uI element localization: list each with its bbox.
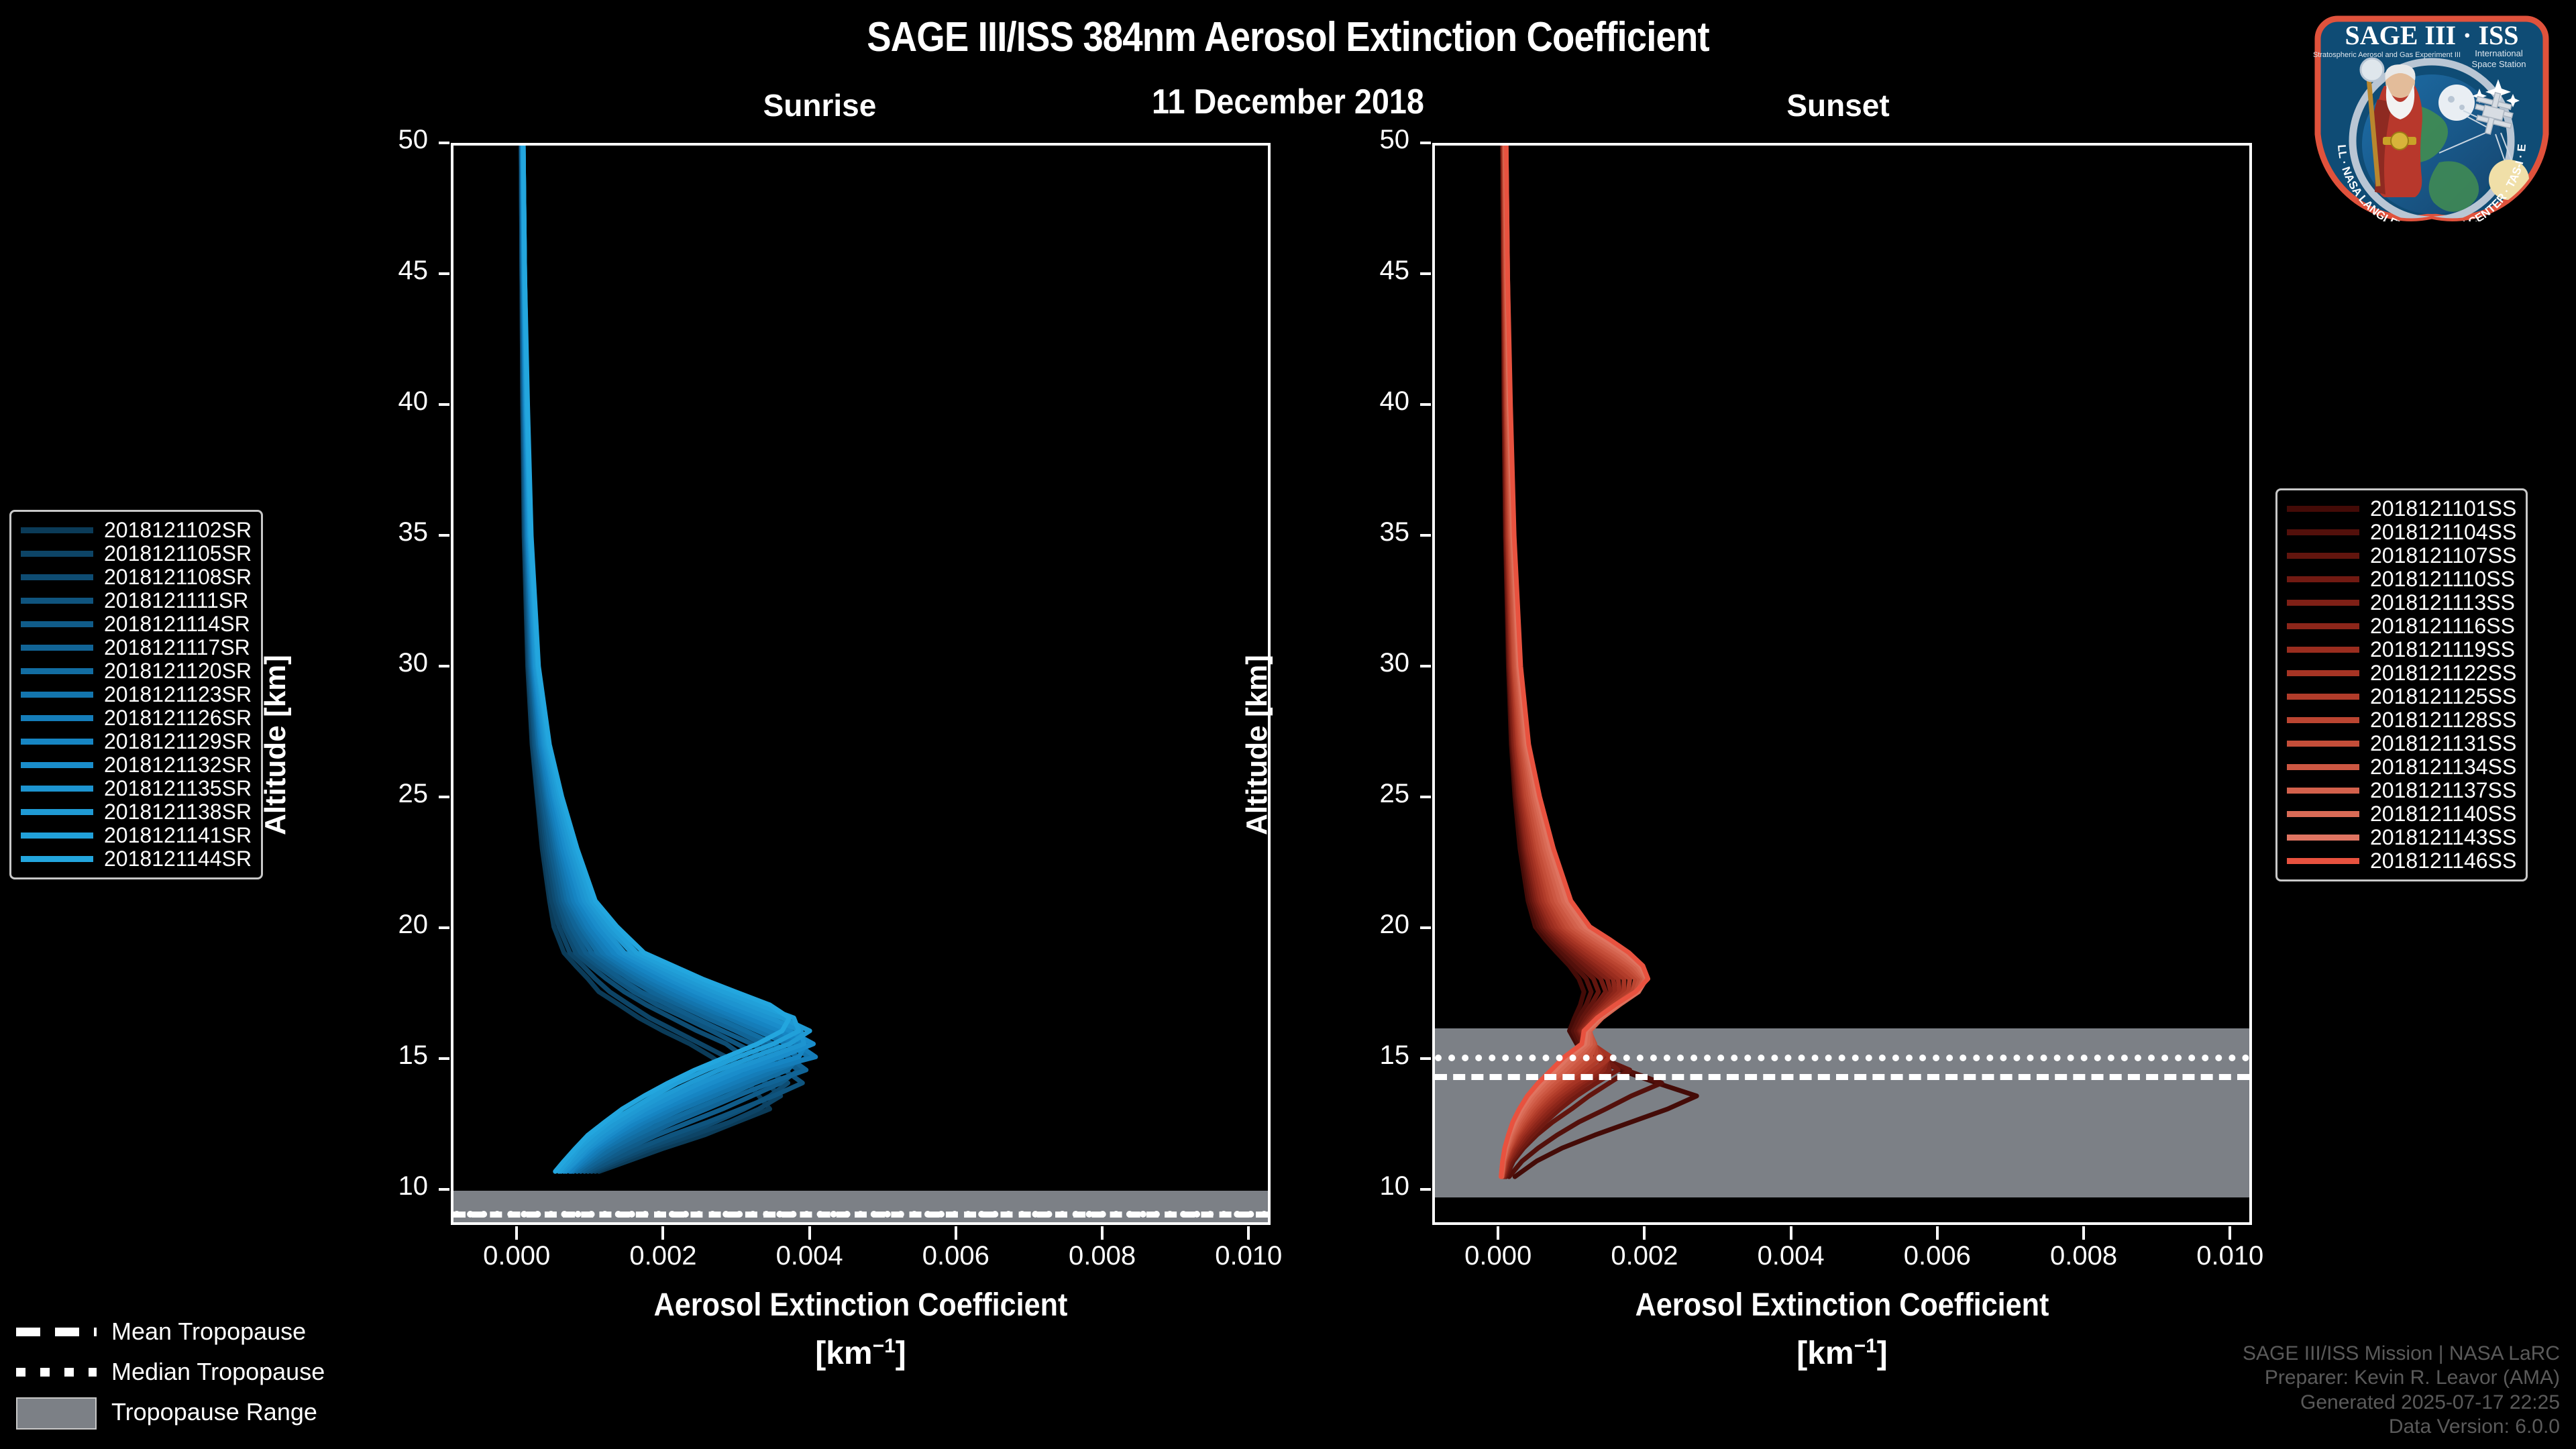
mean-tropopause-line — [1435, 1074, 2249, 1080]
legend-item[interactable]: 2018121129SR — [21, 730, 252, 753]
median-tropopause-line — [453, 1211, 1268, 1218]
x-axis-label: Aerosol Extinction Coefficient — [1473, 1287, 2211, 1324]
sunrise-event-swatch — [21, 598, 93, 604]
patch-subtitle-right-line2: Space Station — [2472, 59, 2526, 69]
sunset-event-label: 2018121143SS — [2370, 825, 2516, 850]
y-tick-label: 30 — [297, 648, 428, 678]
y-tick-label: 45 — [1278, 256, 1409, 286]
legend-item[interactable]: 2018121102SR — [21, 519, 252, 542]
sunset-event-label: 2018121101SS — [2370, 496, 2516, 521]
x-tick-mark — [1643, 1226, 1646, 1240]
legend-item[interactable]: 2018121132SR — [21, 753, 252, 777]
credits-line-data-version: Data Version: 6.0.0 — [2243, 1415, 2560, 1440]
sunset-event-swatch — [2287, 788, 2359, 794]
y-tick-mark — [1420, 403, 1431, 406]
median-tropopause-label: Median Tropopause — [111, 1358, 325, 1386]
sunset-event-label: 2018121134SS — [2370, 755, 2516, 780]
sunrise-event-label: 2018121132SR — [104, 753, 252, 777]
sunrise-event-label: 2018121111SR — [104, 588, 248, 613]
legend-item[interactable]: 2018121113SS — [2287, 591, 2516, 614]
sunrise-event-label: 2018121123SR — [104, 682, 252, 707]
x-tick-mark — [808, 1226, 811, 1240]
date-subtitle: 11 December 2018 — [998, 82, 1578, 122]
y-tick-label: 25 — [297, 779, 428, 809]
y-tick-label: 50 — [297, 125, 428, 155]
y-tick-label: 10 — [297, 1171, 428, 1201]
y-tick-mark — [439, 796, 449, 798]
y-tick-mark — [1420, 1057, 1431, 1060]
sunset-event-label: 2018121131SS — [2370, 731, 2516, 756]
y-tick-label: 35 — [1278, 517, 1409, 547]
legend-item[interactable]: 2018121114SR — [21, 612, 252, 636]
legend-item[interactable]: 2018121120SR — [21, 659, 252, 683]
x-tick-label: 0.000 — [443, 1241, 590, 1271]
sunset-event-swatch — [2287, 623, 2359, 629]
x-tick-mark — [515, 1226, 518, 1240]
legend-item[interactable]: 2018121101SS — [2287, 497, 2516, 521]
page-title: SAGE III/ISS 384nm Aerosol Extinction Co… — [154, 13, 2421, 61]
legend-item[interactable]: 2018121116SS — [2287, 614, 2516, 638]
sunset-event-swatch — [2287, 694, 2359, 700]
sunset-event-swatch — [2287, 811, 2359, 817]
sunset-event-swatch — [2287, 764, 2359, 770]
legend-item[interactable]: 2018121104SS — [2287, 521, 2516, 544]
y-tick-mark — [439, 665, 449, 667]
legend-item[interactable]: 2018121105SR — [21, 542, 252, 566]
sunset-event-label: 2018121128SS — [2370, 708, 2516, 733]
sunset-event-label: 2018121104SS — [2370, 520, 2516, 545]
legend-item[interactable]: 2018121110SS — [2287, 568, 2516, 591]
y-tick-label: 35 — [297, 517, 428, 547]
sunrise-event-swatch — [21, 645, 93, 651]
tropopause-range-key — [16, 1405, 97, 1419]
legend-item[interactable]: 2018121140SS — [2287, 802, 2516, 826]
sage-iii-iss-mission-patch-icon: SAGE III · ISS Stratospheric Aerosol and… — [2308, 7, 2556, 221]
sunset-event-swatch — [2287, 576, 2359, 582]
sunset-event-swatch — [2287, 858, 2359, 864]
sunrise-event-label: 2018121135SR — [104, 776, 252, 801]
x-tick-mark — [955, 1226, 957, 1240]
sunset-event-label: 2018121137SS — [2370, 778, 2516, 803]
credits-block: SAGE III/ISS Mission | NASA LaRC Prepare… — [2243, 1342, 2560, 1440]
y-tick-mark — [1420, 534, 1431, 537]
credits-line-preparer: Preparer: Kevin R. Leavor (AMA) — [2243, 1366, 2560, 1391]
sunset-event-label: 2018121122SS — [2370, 661, 2516, 686]
x-axis-unit: [km−1] — [451, 1335, 1271, 1372]
patch-subtitle-left: Stratospheric Aerosol and Gas Experiment… — [2313, 51, 2461, 59]
y-tick-mark — [439, 403, 449, 406]
sunrise-event-label: 2018121117SR — [104, 635, 250, 660]
sunset-event-swatch — [2287, 670, 2359, 676]
x-tick-label: 0.004 — [1717, 1241, 1865, 1271]
sunrise-event-label: 2018121129SR — [104, 729, 252, 754]
patch-title: SAGE III · ISS — [2345, 20, 2518, 50]
legend-item[interactable]: 2018121117SR — [21, 636, 252, 659]
y-axis-label: Altitude [km] — [1240, 655, 1274, 835]
sunset-event-label: 2018121125SS — [2370, 684, 2516, 709]
sunrise-event-label: 2018121105SR — [104, 541, 252, 566]
sunset-event-label: 2018121140SS — [2370, 802, 2516, 826]
sunset-event-swatch — [2287, 741, 2359, 747]
tropopause-legend: Mean Tropopause Median Tropopause Tropop… — [16, 1311, 325, 1432]
sunset-event-swatch — [2287, 553, 2359, 559]
legend-item-median-tropopause: Median Tropopause — [16, 1352, 325, 1392]
sunset-event-label: 2018121146SS — [2370, 849, 2516, 873]
x-tick-label: 0.008 — [1028, 1241, 1176, 1271]
sunrise-plot-panel — [451, 143, 1271, 1225]
legend-item[interactable]: 2018121128SS — [2287, 708, 2516, 732]
y-tick-label: 10 — [1278, 1171, 1409, 1201]
legend-item[interactable]: 2018121108SR — [21, 566, 252, 589]
x-tick-label: 0.000 — [1424, 1241, 1572, 1271]
sunset-event-label: 2018121113SS — [2370, 590, 2515, 615]
y-tick-label: 40 — [1278, 386, 1409, 417]
sunrise-legend: 2018121102SR2018121105SR2018121108SR2018… — [9, 510, 263, 879]
y-tick-label: 15 — [1278, 1040, 1409, 1071]
legend-item[interactable]: 2018121107SS — [2287, 544, 2516, 568]
y-tick-label: 20 — [297, 910, 428, 940]
legend-item[interactable]: 2018121144SR — [21, 847, 252, 871]
x-tick-label: 0.010 — [2156, 1241, 2304, 1271]
patch-subtitle-right-line1: International — [2475, 48, 2523, 58]
tropopause-range-label: Tropopause Range — [111, 1398, 317, 1426]
legend-item-tropopause-range: Tropopause Range — [16, 1392, 325, 1432]
y-tick-mark — [439, 272, 449, 275]
legend-item[interactable]: 2018121126SR — [21, 706, 252, 730]
x-tick-mark — [1497, 1226, 1499, 1240]
x-tick-label: 0.006 — [1864, 1241, 2011, 1271]
sunrise-event-swatch — [21, 809, 93, 815]
median-tropopause-key — [16, 1364, 97, 1379]
legend-item[interactable]: 2018121135SR — [21, 777, 252, 800]
y-tick-mark — [1420, 1188, 1431, 1191]
sunrise-event-swatch — [21, 833, 93, 839]
sunset-legend: 2018121101SS2018121104SS2018121107SS2018… — [2275, 488, 2528, 881]
legend-item[interactable]: 2018121125SS — [2287, 685, 2516, 708]
sunrise-event-label: 2018121102SR — [104, 518, 252, 543]
sunset-event-label: 2018121107SS — [2370, 543, 2516, 568]
sunrise-event-label: 2018121108SR — [104, 565, 252, 590]
legend-item[interactable]: 2018121134SS — [2287, 755, 2516, 779]
y-tick-mark — [1420, 272, 1431, 275]
x-tick-label: 0.006 — [882, 1241, 1030, 1271]
y-axis-label: Altitude [km] — [259, 655, 292, 835]
sunset-panel-label: Sunset — [1603, 87, 2073, 123]
sunrise-event-label: 2018121120SR — [104, 659, 252, 684]
sunset-event-label: 2018121116SS — [2370, 614, 2515, 639]
y-tick-mark — [439, 534, 449, 537]
x-tick-label: 0.008 — [2010, 1241, 2157, 1271]
y-tick-label: 20 — [1278, 910, 1409, 940]
legend-item[interactable]: 2018121131SS — [2287, 732, 2516, 755]
x-axis-label: Aerosol Extinction Coefficient — [492, 1287, 1230, 1324]
sunrise-event-swatch — [21, 621, 93, 627]
y-tick-label: 30 — [1278, 648, 1409, 678]
x-tick-label: 0.002 — [1570, 1241, 1718, 1271]
sunset-event-label: 2018121110SS — [2370, 567, 2515, 592]
legend-item[interactable]: 2018121137SS — [2287, 779, 2516, 802]
sunset-event-swatch — [2287, 506, 2359, 512]
sunrise-event-swatch — [21, 715, 93, 721]
x-tick-mark — [661, 1226, 664, 1240]
y-tick-mark — [1420, 796, 1431, 798]
legend-item[interactable]: 2018121146SS — [2287, 849, 2516, 873]
legend-item[interactable]: 2018121138SR — [21, 800, 252, 824]
legend-item[interactable]: 2018121123SR — [21, 683, 252, 706]
sunset-plot-panel — [1432, 143, 2252, 1225]
mean-tropopause-label: Mean Tropopause — [111, 1318, 306, 1346]
sunrise-event-swatch — [21, 692, 93, 698]
x-tick-label: 0.004 — [736, 1241, 883, 1271]
credits-line-mission: SAGE III/ISS Mission | NASA LaRC — [2243, 1342, 2560, 1366]
sunset-event-swatch — [2287, 717, 2359, 723]
profile-series-group — [453, 146, 1268, 1222]
x-tick-mark — [2229, 1226, 2231, 1240]
y-tick-label: 40 — [297, 386, 428, 417]
x-tick-label: 0.002 — [589, 1241, 737, 1271]
sunrise-event-swatch — [21, 762, 93, 768]
sunset-event-swatch — [2287, 835, 2359, 841]
sunrise-event-swatch — [21, 527, 93, 533]
y-tick-label: 15 — [297, 1040, 428, 1071]
sunrise-event-swatch — [21, 786, 93, 792]
sunset-event-swatch — [2287, 600, 2359, 606]
sunrise-event-swatch — [21, 668, 93, 674]
x-tick-label: 0.010 — [1175, 1241, 1322, 1271]
sunrise-event-swatch — [21, 739, 93, 745]
y-tick-mark — [439, 1188, 449, 1191]
legend-item[interactable]: 2018121143SS — [2287, 826, 2516, 849]
sunrise-event-label: 2018121138SR — [104, 800, 252, 824]
median-tropopause-line — [1435, 1055, 2249, 1061]
x-tick-mark — [1790, 1226, 1792, 1240]
legend-item[interactable]: 2018121119SS — [2287, 638, 2516, 661]
sunrise-panel-label: Sunrise — [585, 87, 1055, 123]
y-tick-mark — [439, 1057, 449, 1060]
legend-item[interactable]: 2018121122SS — [2287, 661, 2516, 685]
y-tick-label: 25 — [1278, 779, 1409, 809]
legend-item[interactable]: 2018121141SR — [21, 824, 252, 847]
sunrise-event-label: 2018121144SR — [104, 847, 252, 871]
y-tick-label: 50 — [1278, 125, 1409, 155]
x-axis-unit: [km−1] — [1432, 1335, 2252, 1372]
y-tick-mark — [1420, 142, 1431, 144]
y-tick-mark — [439, 142, 449, 144]
sunset-event-label: 2018121119SS — [2370, 637, 2515, 662]
y-tick-mark — [1420, 926, 1431, 929]
x-tick-mark — [1247, 1226, 1250, 1240]
sunrise-event-label: 2018121126SR — [104, 706, 252, 731]
y-tick-label: 45 — [297, 256, 428, 286]
sunset-event-swatch — [2287, 647, 2359, 653]
x-tick-mark — [1936, 1226, 1939, 1240]
sunrise-event-label: 2018121114SR — [104, 612, 250, 637]
sunrise-event-swatch — [21, 856, 93, 862]
legend-item-mean-tropopause: Mean Tropopause — [16, 1311, 325, 1352]
sunset-event-swatch — [2287, 529, 2359, 535]
sunrise-event-swatch — [21, 551, 93, 557]
x-tick-mark — [1101, 1226, 1104, 1240]
y-tick-mark — [439, 926, 449, 929]
y-tick-mark — [1420, 665, 1431, 667]
sunrise-event-swatch — [21, 574, 93, 580]
credits-line-generated: Generated 2025-07-17 22:25 — [2243, 1391, 2560, 1415]
mean-tropopause-key — [16, 1324, 97, 1339]
sunrise-event-label: 2018121141SR — [104, 823, 252, 848]
x-tick-mark — [2082, 1226, 2085, 1240]
legend-item[interactable]: 2018121111SR — [21, 589, 252, 612]
